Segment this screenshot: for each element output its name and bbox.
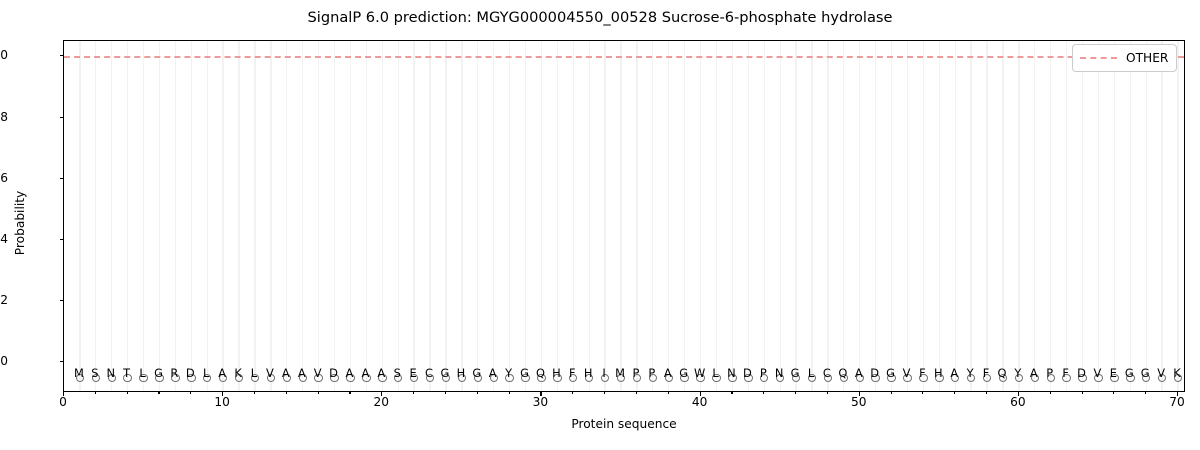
other-probability-line <box>64 56 1184 58</box>
gridline <box>939 41 940 391</box>
residue-letter: Y <box>1014 366 1021 380</box>
residue-letter: Y <box>505 366 512 380</box>
residue-letter: A <box>298 366 306 380</box>
gridline <box>1130 41 1131 391</box>
gridline <box>334 41 335 391</box>
gridline <box>1034 41 1035 391</box>
y-tick-label: 0.6 <box>0 171 8 185</box>
residue-letter: S <box>394 366 401 380</box>
legend-swatch-other <box>1080 57 1117 59</box>
gridline <box>302 41 303 391</box>
residue-letter: F <box>983 366 990 380</box>
residue-letter: P <box>760 366 767 380</box>
chart-title: SignalP 6.0 prediction: MGYG000004550_00… <box>0 9 1200 26</box>
x-tick-minor <box>668 392 669 394</box>
plot-area <box>63 40 1185 392</box>
gridline <box>350 41 351 391</box>
gridline <box>398 41 399 391</box>
residue-letter: L <box>203 366 209 380</box>
gridline <box>620 41 621 391</box>
residue-letter: A <box>1030 366 1038 380</box>
gridline <box>318 41 319 391</box>
residue-letter: G <box>472 366 481 380</box>
x-tick-minor <box>190 392 191 394</box>
gridline <box>573 41 574 391</box>
gridline <box>461 41 462 391</box>
residue-letter: L <box>139 366 145 380</box>
residue-letter: V <box>1157 366 1165 380</box>
gridline <box>811 41 812 391</box>
gridline <box>413 41 414 391</box>
signalp-prediction-figure: SignalP 6.0 prediction: MGYG000004550_00… <box>0 0 1200 450</box>
gridline <box>891 41 892 391</box>
residue-letter: H <box>934 366 943 380</box>
residue-letter: W <box>694 366 705 380</box>
gridline <box>207 41 208 391</box>
x-tick-minor <box>349 392 350 394</box>
residue-letter: C <box>425 366 433 380</box>
x-tick-minor <box>986 392 987 394</box>
gridline <box>1082 41 1083 391</box>
residue-letter: F <box>1062 366 1069 380</box>
residue-letter: G <box>441 366 450 380</box>
x-tick-minor <box>731 392 732 394</box>
residue-letter: T <box>123 366 130 380</box>
x-tick-minor <box>1082 392 1083 394</box>
y-tick-label: 0.0 <box>0 354 8 368</box>
gridline <box>1050 41 1051 391</box>
gridline <box>1177 41 1178 391</box>
gridline <box>477 41 478 391</box>
x-tick-label: 20 <box>374 395 390 409</box>
residue-letter: G <box>679 366 688 380</box>
residue-letter: V <box>314 366 322 380</box>
residue-letter: G <box>791 366 800 380</box>
gridline <box>843 41 844 391</box>
x-tick-minor <box>636 392 637 394</box>
gridline <box>366 41 367 391</box>
gridline <box>748 41 749 391</box>
gridline <box>509 41 510 391</box>
gridline <box>1146 41 1147 391</box>
gridline <box>254 41 255 391</box>
gridline <box>732 41 733 391</box>
x-tick-minor <box>286 392 287 394</box>
residue-letter: Q <box>536 366 545 380</box>
gridline <box>970 41 971 391</box>
x-tick-minor <box>254 392 255 394</box>
residue-letter: N <box>775 366 784 380</box>
gridline <box>1002 41 1003 391</box>
gridline <box>175 41 176 391</box>
residue-letter: V <box>266 366 274 380</box>
gridline <box>286 41 287 391</box>
gridline <box>764 41 765 391</box>
residue-letter: H <box>552 366 561 380</box>
gridline <box>429 41 430 391</box>
gridline <box>827 41 828 391</box>
residue-letter: V <box>903 366 911 380</box>
gridline <box>541 41 542 391</box>
x-tick-minor <box>763 392 764 394</box>
residue-sequence-labels: MSNTLGRDLAKLVAAVDAAASECGHGAYGQHFHIMPPAGW… <box>63 366 1185 382</box>
residue-letter: Q <box>838 366 847 380</box>
residue-letter: K <box>234 366 241 380</box>
gridline <box>445 41 446 391</box>
x-tick-label: 60 <box>1010 395 1026 409</box>
residue-letter: A <box>489 366 497 380</box>
gridline <box>270 41 271 391</box>
residue-letter: Y <box>967 366 974 380</box>
residue-letter: A <box>218 366 226 380</box>
gridline <box>222 41 223 391</box>
residue-letter: N <box>727 366 736 380</box>
residue-letter: C <box>823 366 831 380</box>
residue-letter: L <box>712 366 718 380</box>
residue-letter: K <box>1173 366 1180 380</box>
residue-letter: P <box>648 366 655 380</box>
residue-letter: S <box>91 366 98 380</box>
residue-letter: A <box>950 366 958 380</box>
gridline <box>859 41 860 391</box>
residue-letter: D <box>1077 366 1086 380</box>
gridline <box>955 41 956 391</box>
gridline <box>382 41 383 391</box>
x-tick-minor <box>1145 392 1146 394</box>
residue-letter: D <box>743 366 752 380</box>
residue-letter: A <box>346 366 354 380</box>
gridline <box>700 41 701 391</box>
x-tick-minor <box>795 392 796 394</box>
x-tick-minor <box>509 392 510 394</box>
gridline <box>127 41 128 391</box>
gridline <box>668 41 669 391</box>
x-axis-label: Protein sequence <box>63 417 1185 431</box>
gridline <box>1098 41 1099 391</box>
residue-letter: E <box>410 366 417 380</box>
gridline <box>143 41 144 391</box>
residue-letter: A <box>282 366 290 380</box>
residue-letter: G <box>1141 366 1150 380</box>
residue-letter: L <box>808 366 814 380</box>
gridline <box>111 41 112 391</box>
gridline <box>1114 41 1115 391</box>
gridline <box>79 41 80 391</box>
gridline <box>493 41 494 391</box>
gridline <box>716 41 717 391</box>
y-tick-label: 0.2 <box>0 293 8 307</box>
residue-letter: G <box>154 366 163 380</box>
x-tick-label: 40 <box>692 395 708 409</box>
gridline <box>95 41 96 391</box>
gridline <box>1066 41 1067 391</box>
gridline <box>907 41 908 391</box>
residue-letter: H <box>457 366 466 380</box>
residue-letter: A <box>664 366 672 380</box>
x-tick-label: 0 <box>59 395 67 409</box>
gridline <box>604 41 605 391</box>
residue-letter: L <box>251 366 257 380</box>
x-tick-minor <box>1050 392 1051 394</box>
x-tick-label: 30 <box>533 395 549 409</box>
residue-letter: G <box>1125 366 1134 380</box>
x-tick-minor <box>827 392 828 394</box>
gridline <box>238 41 239 391</box>
y-axis-label: Probability <box>13 123 27 323</box>
residue-letter: I <box>602 366 605 380</box>
gridline <box>875 41 876 391</box>
legend[interactable]: OTHER <box>1072 44 1177 72</box>
residue-letter: D <box>870 366 879 380</box>
residue-letter: D <box>186 366 195 380</box>
gridline <box>525 41 526 391</box>
x-tick-minor <box>127 392 128 394</box>
residue-letter: F <box>569 366 576 380</box>
y-tick-label: 1.0 <box>0 48 8 62</box>
x-tick-minor <box>954 392 955 394</box>
gridline <box>1018 41 1019 391</box>
x-tick-minor <box>318 392 319 394</box>
residue-letter: D <box>329 366 338 380</box>
gridline <box>923 41 924 391</box>
residue-letter: G <box>886 366 895 380</box>
gridline <box>589 41 590 391</box>
gridline <box>557 41 558 391</box>
residue-letter: M <box>615 366 625 380</box>
legend-label-other: OTHER <box>1126 51 1168 65</box>
gridline <box>159 41 160 391</box>
gridline <box>652 41 653 391</box>
residue-letter: Q <box>997 366 1006 380</box>
residue-letter: A <box>377 366 385 380</box>
residue-letter: A <box>855 366 863 380</box>
x-tick-minor <box>922 392 923 394</box>
residue-letter: G <box>520 366 529 380</box>
x-tick-label: 10 <box>214 395 230 409</box>
residue-letter: P <box>1046 366 1053 380</box>
gridline <box>1161 41 1162 391</box>
gridline <box>191 41 192 391</box>
residue-letter: F <box>919 366 926 380</box>
x-tick-minor <box>95 392 96 394</box>
x-tick-minor <box>158 392 159 394</box>
x-tick-minor <box>891 392 892 394</box>
y-tick-label: 0.8 <box>0 110 8 124</box>
y-tick-label: 0.4 <box>0 232 8 246</box>
gridline <box>986 41 987 391</box>
residue-letter: V <box>1094 366 1102 380</box>
residue-letter: A <box>361 366 369 380</box>
residue-letter: R <box>170 366 178 380</box>
x-tick-minor <box>413 392 414 394</box>
gridline <box>795 41 796 391</box>
residue-letter: M <box>74 366 84 380</box>
residue-letter: H <box>584 366 593 380</box>
x-tick-label: 50 <box>851 395 867 409</box>
x-tick-minor <box>445 392 446 394</box>
residue-letter: N <box>106 366 115 380</box>
gridline <box>780 41 781 391</box>
residue-letter: E <box>1110 366 1117 380</box>
gridline <box>636 41 637 391</box>
x-tick-minor <box>572 392 573 394</box>
x-tick-minor <box>1113 392 1114 394</box>
residue-letter: P <box>632 366 639 380</box>
gridline <box>684 41 685 391</box>
x-tick-label: 70 <box>1169 395 1185 409</box>
x-tick-minor <box>604 392 605 394</box>
x-tick-minor <box>477 392 478 394</box>
